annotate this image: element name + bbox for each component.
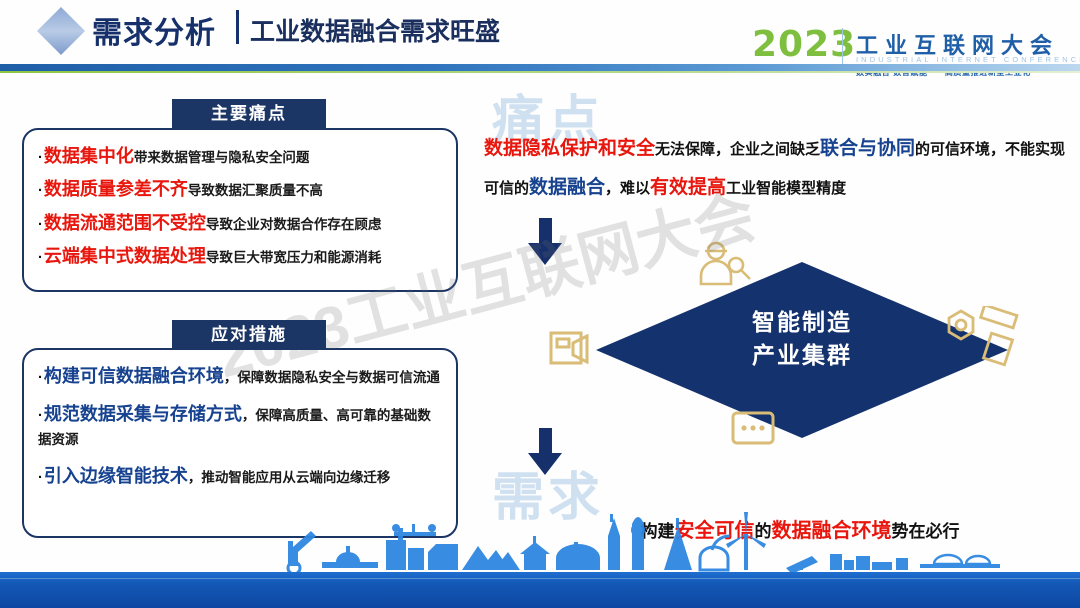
paragraph-segment: 数据融合 xyxy=(529,177,605,198)
gavel-icon xyxy=(974,306,1026,370)
page-subtitle: 工业数据融合需求旺盛 xyxy=(250,12,500,48)
diamond-bullet-icon xyxy=(37,7,85,55)
list-item: ·引入边缘智能技术，推动智能应用从云端向边缘迁移 xyxy=(38,462,444,490)
bullet-tail: ，保障数据隐私安全与数据可信流通 xyxy=(224,370,440,385)
paragraph-segment: ，难以 xyxy=(605,180,650,197)
list-item: ·规范数据采集与存储方式，保障高质量、高可靠的基础数据资源 xyxy=(38,400,444,451)
industrial-city-skyline xyxy=(0,510,1080,578)
slide-header: 需求分析 工业数据融合需求旺盛 2023 中国·苏州 5月11日-12日 工业互… xyxy=(0,0,1080,56)
countermeasure-list: ·构建可信数据融合环境，保障数据隐私安全与数据可信流通 ·规范数据采集与存储方式… xyxy=(24,350,456,490)
bullet-tail: 导致企业对数据合作存在顾虑 xyxy=(206,217,382,232)
logo-year: 2023 xyxy=(752,24,856,65)
paragraph-segment: 数据隐私保护和安全 xyxy=(484,138,655,159)
bullet-keyword: 规范数据采集与存储方式 xyxy=(44,404,242,424)
bullet-keyword: 数据流通范围不受控 xyxy=(44,213,206,233)
bullet-tail: 导致巨大带宽压力和能源消耗 xyxy=(206,250,382,265)
bullet-keyword: 云端集中式数据处理 xyxy=(44,246,206,266)
list-item: ·数据流通范围不受控导致企业对数据合作存在顾虑 xyxy=(38,209,444,237)
header-band-green xyxy=(0,71,1080,73)
pain-point-paragraph: 数据隐私保护和安全无法保障，企业之间缺乏联合与协同的可信环境，不能实现可信的数据… xyxy=(484,130,1070,208)
conference-logo: 2023 中国·苏州 5月11日-12日 工业互联网大会 INDUSTRIAL … xyxy=(744,26,1074,82)
pain-point-list: ·数据集中化带来数据管理与隐私安全问题 ·数据质量参差不齐导致数据汇聚质量不高 … xyxy=(24,130,456,271)
bullet-keyword: 构建可信数据融合环境 xyxy=(44,366,224,386)
logo-name-en: INDUSTRIAL INTERNET CONFERENCE xyxy=(856,55,1080,64)
paragraph-segment: 工业智能模型精度 xyxy=(726,180,846,197)
list-item: ·构建可信数据融合环境，保障数据隐私安全与数据可信流通 xyxy=(38,362,444,390)
sea-band xyxy=(0,572,1080,608)
worker-hardhat-wrench-icon xyxy=(692,238,754,300)
smart-manufacturing-diamond: 智能制造 产业集群 xyxy=(596,262,1008,438)
diamond-label-line2: 产业集群 xyxy=(596,339,1008,372)
paragraph-segment: 有效提高 xyxy=(650,177,726,198)
panel-title-countermeasures: 应对措施 xyxy=(172,320,326,350)
arrow-down-icon xyxy=(528,218,562,266)
bullet-keyword: 数据集中化 xyxy=(44,146,134,166)
arrow-down-icon xyxy=(528,428,562,476)
bullet-tail: 带来数据管理与隐私安全问题 xyxy=(134,150,310,165)
list-item: ·数据质量参差不齐导致数据汇聚质量不高 xyxy=(38,175,444,203)
header-band-blue xyxy=(0,64,1080,71)
title-divider xyxy=(236,10,239,44)
chat-box-icon xyxy=(730,410,776,450)
paragraph-segment: 无法保障，企业之间缺乏 xyxy=(655,141,820,158)
gear-nut-icon xyxy=(944,308,978,342)
bullet-keyword: 数据质量参差不齐 xyxy=(44,179,188,199)
list-item: ·数据集中化带来数据管理与隐私安全问题 xyxy=(38,142,444,170)
bullet-tail: 导致数据汇聚质量不高 xyxy=(188,183,323,198)
bullet-tail: ，推动智能应用从云端向边缘迁移 xyxy=(188,470,391,485)
page-title: 需求分析 xyxy=(92,8,216,52)
panel-pain-points: ·数据集中化带来数据管理与隐私安全问题 ·数据质量参差不齐导致数据汇聚质量不高 … xyxy=(22,128,458,292)
projector-icon xyxy=(548,330,594,376)
list-item: ·云端集中式数据处理导致巨大带宽压力和能源消耗 xyxy=(38,242,444,270)
slide-canvas: 需求分析 工业数据融合需求旺盛 2023 中国·苏州 5月11日-12日 工业互… xyxy=(0,0,1080,608)
paragraph-segment: 联合与协同 xyxy=(820,138,915,159)
bullet-keyword: 引入边缘智能技术 xyxy=(44,466,188,486)
panel-title-pain-points: 主要痛点 xyxy=(172,99,326,129)
